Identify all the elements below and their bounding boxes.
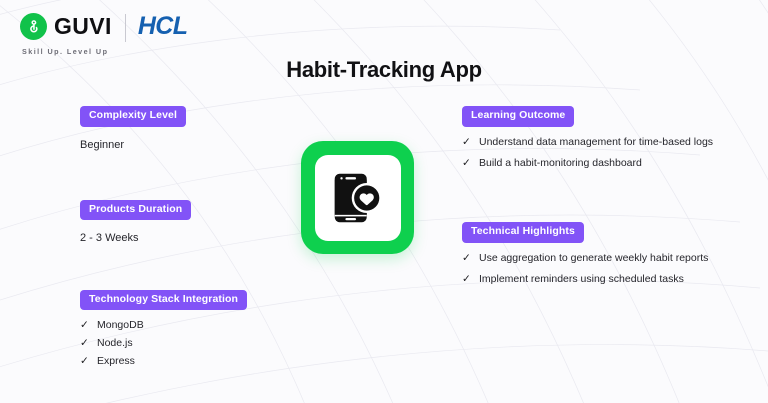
list-item-label: Express [97, 355, 295, 369]
guvi-logo: GUVI Skill Up. Level Up [20, 13, 112, 56]
list-item-label: Use aggregation to generate weekly habit… [479, 252, 722, 266]
section-technology-stack-integration: Technology Stack Integration ✓ MongoDB ✓… [80, 289, 295, 369]
list-item: ✓ MongoDB [80, 319, 295, 333]
brand-divider-icon [125, 14, 126, 42]
list-item: ✓ Understand data management for time-ba… [462, 136, 722, 150]
hcl-wordmark: HCL [138, 14, 188, 39]
learning-outcome-list: ✓ Understand data management for time-ba… [462, 136, 722, 171]
list-item: ✓ Node.js [80, 337, 295, 351]
badge-learning-outcome: Learning Outcome [462, 106, 574, 127]
section-products-duration: Products Duration 2 - 3 Weeks [80, 199, 295, 246]
check-icon: ✓ [80, 355, 89, 369]
guvi-logo-row: GUVI [20, 13, 112, 40]
mobile-heart-app-icon [301, 141, 414, 254]
guvi-tagline: Skill Up. Level Up [22, 47, 108, 56]
list-item-label: Understand data management for time-base… [479, 136, 722, 150]
technology-stack-list: ✓ MongoDB ✓ Node.js ✓ Express [80, 319, 295, 369]
check-icon: ✓ [462, 252, 471, 266]
check-icon: ✓ [462, 273, 471, 287]
spacer [80, 246, 295, 289]
badge-products-duration: Products Duration [80, 200, 191, 221]
section-complexity-level: Complexity Level Beginner [80, 105, 295, 152]
check-icon: ✓ [80, 319, 89, 333]
list-item: ✓ Build a habit-monitoring dashboard [462, 157, 722, 171]
list-item: ✓ Use aggregation to generate weekly hab… [462, 252, 722, 266]
guvi-g-logomark-icon [20, 13, 47, 40]
badge-complexity-level: Complexity Level [80, 106, 186, 127]
list-item: ✓ Express [80, 355, 295, 369]
badge-technology-stack-integration: Technology Stack Integration [80, 290, 247, 311]
value-complexity-level: Beginner [80, 138, 295, 152]
badge-technical-highlights: Technical Highlights [462, 222, 584, 243]
page-title: Habit-Tracking App [0, 57, 768, 83]
list-item: ✓ Implement reminders using scheduled ta… [462, 273, 722, 287]
slide-canvas: GUVI Skill Up. Level Up HCL Habit-Tracki… [0, 0, 768, 403]
check-icon: ✓ [80, 337, 89, 351]
right-column: Learning Outcome ✓ Understand data manag… [462, 105, 722, 294]
value-products-duration: 2 - 3 Weeks [80, 231, 295, 245]
spacer [462, 177, 722, 221]
check-icon: ✓ [462, 136, 471, 150]
list-item-label: Build a habit-monitoring dashboard [479, 157, 722, 171]
list-item-label: Node.js [97, 337, 295, 351]
icon-inner-plate [315, 155, 401, 241]
check-icon: ✓ [462, 157, 471, 171]
section-learning-outcome: Learning Outcome ✓ Understand data manag… [462, 105, 722, 170]
left-column: Complexity Level Beginner Products Durat… [80, 105, 295, 373]
spacer [80, 152, 295, 199]
section-technical-highlights: Technical Highlights ✓ Use aggregation t… [462, 221, 722, 286]
list-item-label: Implement reminders using scheduled task… [479, 273, 722, 287]
brand-bar: GUVI Skill Up. Level Up HCL [20, 13, 187, 56]
guvi-wordmark: GUVI [54, 15, 112, 38]
list-item-label: MongoDB [97, 319, 295, 333]
technical-highlights-list: ✓ Use aggregation to generate weekly hab… [462, 252, 722, 287]
